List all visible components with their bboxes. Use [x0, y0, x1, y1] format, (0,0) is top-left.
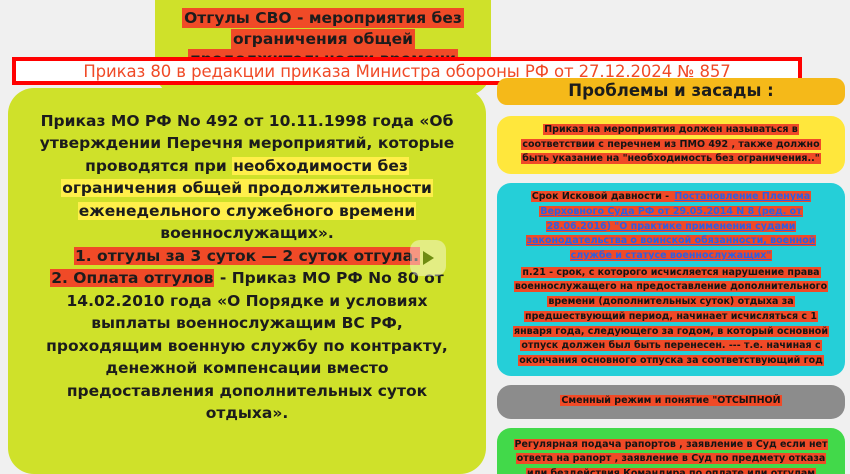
left-item-1: 1. отгулы за 3 суток — 2 суток отгула.	[34, 245, 460, 267]
left-item-2: 2. Оплата отгулов - Приказ МО РФ No 80 о…	[34, 267, 460, 424]
panel-shift-mode: Сменный режим и понятие "ОТСЫПНОЙ	[497, 385, 845, 419]
panel-regular-reports-text: Регулярная подача рапортов , заявление в…	[514, 439, 829, 474]
item-1-text: 1. отгулы за 3 суток — 2 суток отгула.	[74, 247, 420, 265]
panel-order-naming-value: Приказ на мероприятия должен называться …	[521, 124, 820, 164]
panel-regular-reports: Регулярная подача рапортов , заявление в…	[497, 428, 845, 474]
panel-limitations-lead-line: Срок Исковой давности - Постановление Пл…	[507, 190, 835, 264]
slide-canvas: Отгулы СВО - мероприятия без ограничения…	[0, 0, 850, 474]
left-content-card: Приказ МО РФ No 492 от 10.11.1998 года «…	[8, 88, 486, 474]
panel-statute-of-limitations: Срок Исковой давности - Постановление Пл…	[497, 183, 845, 376]
play-arrow-icon[interactable]	[410, 240, 446, 276]
item-2-rest: - Приказ МО РФ No 80 от 14.02.2010 года …	[46, 269, 448, 422]
left-paragraph-1: Приказ МО РФ No 492 от 10.11.1998 года «…	[34, 110, 460, 245]
problems-header-text: Проблемы и засады :	[568, 81, 773, 100]
item-2-highlight: 2. Оплата отгулов	[50, 269, 214, 287]
limitations-lead: Срок Исковой давности -	[531, 191, 674, 202]
limitations-body: п.21 - срок, с которого исчисляется нару…	[513, 267, 829, 366]
panel-order-naming-text: Приказ на мероприятия должен называться …	[507, 123, 835, 167]
problems-header: Проблемы и засады :	[497, 78, 845, 105]
panel-order-naming: Приказ на мероприятия должен называться …	[497, 116, 845, 174]
p1-part2: военнослужащих».	[160, 224, 333, 242]
panel-regular-reports-line: Регулярная подача рапортов , заявление в…	[507, 438, 835, 474]
title-line-1: Отгулы СВО - мероприятия без ограничения…	[182, 8, 464, 49]
panel-shift-mode-text: Сменный режим и понятие "ОТСЫПНОЙ	[560, 395, 781, 406]
right-column: Проблемы и засады : Приказ на мероприяти…	[497, 78, 845, 474]
panel-limitations-body-line: п.21 - срок, с которого исчисляется нару…	[507, 266, 835, 369]
panel-shift-mode-line: Сменный режим и понятие "ОТСЫПНОЙ	[507, 394, 835, 409]
